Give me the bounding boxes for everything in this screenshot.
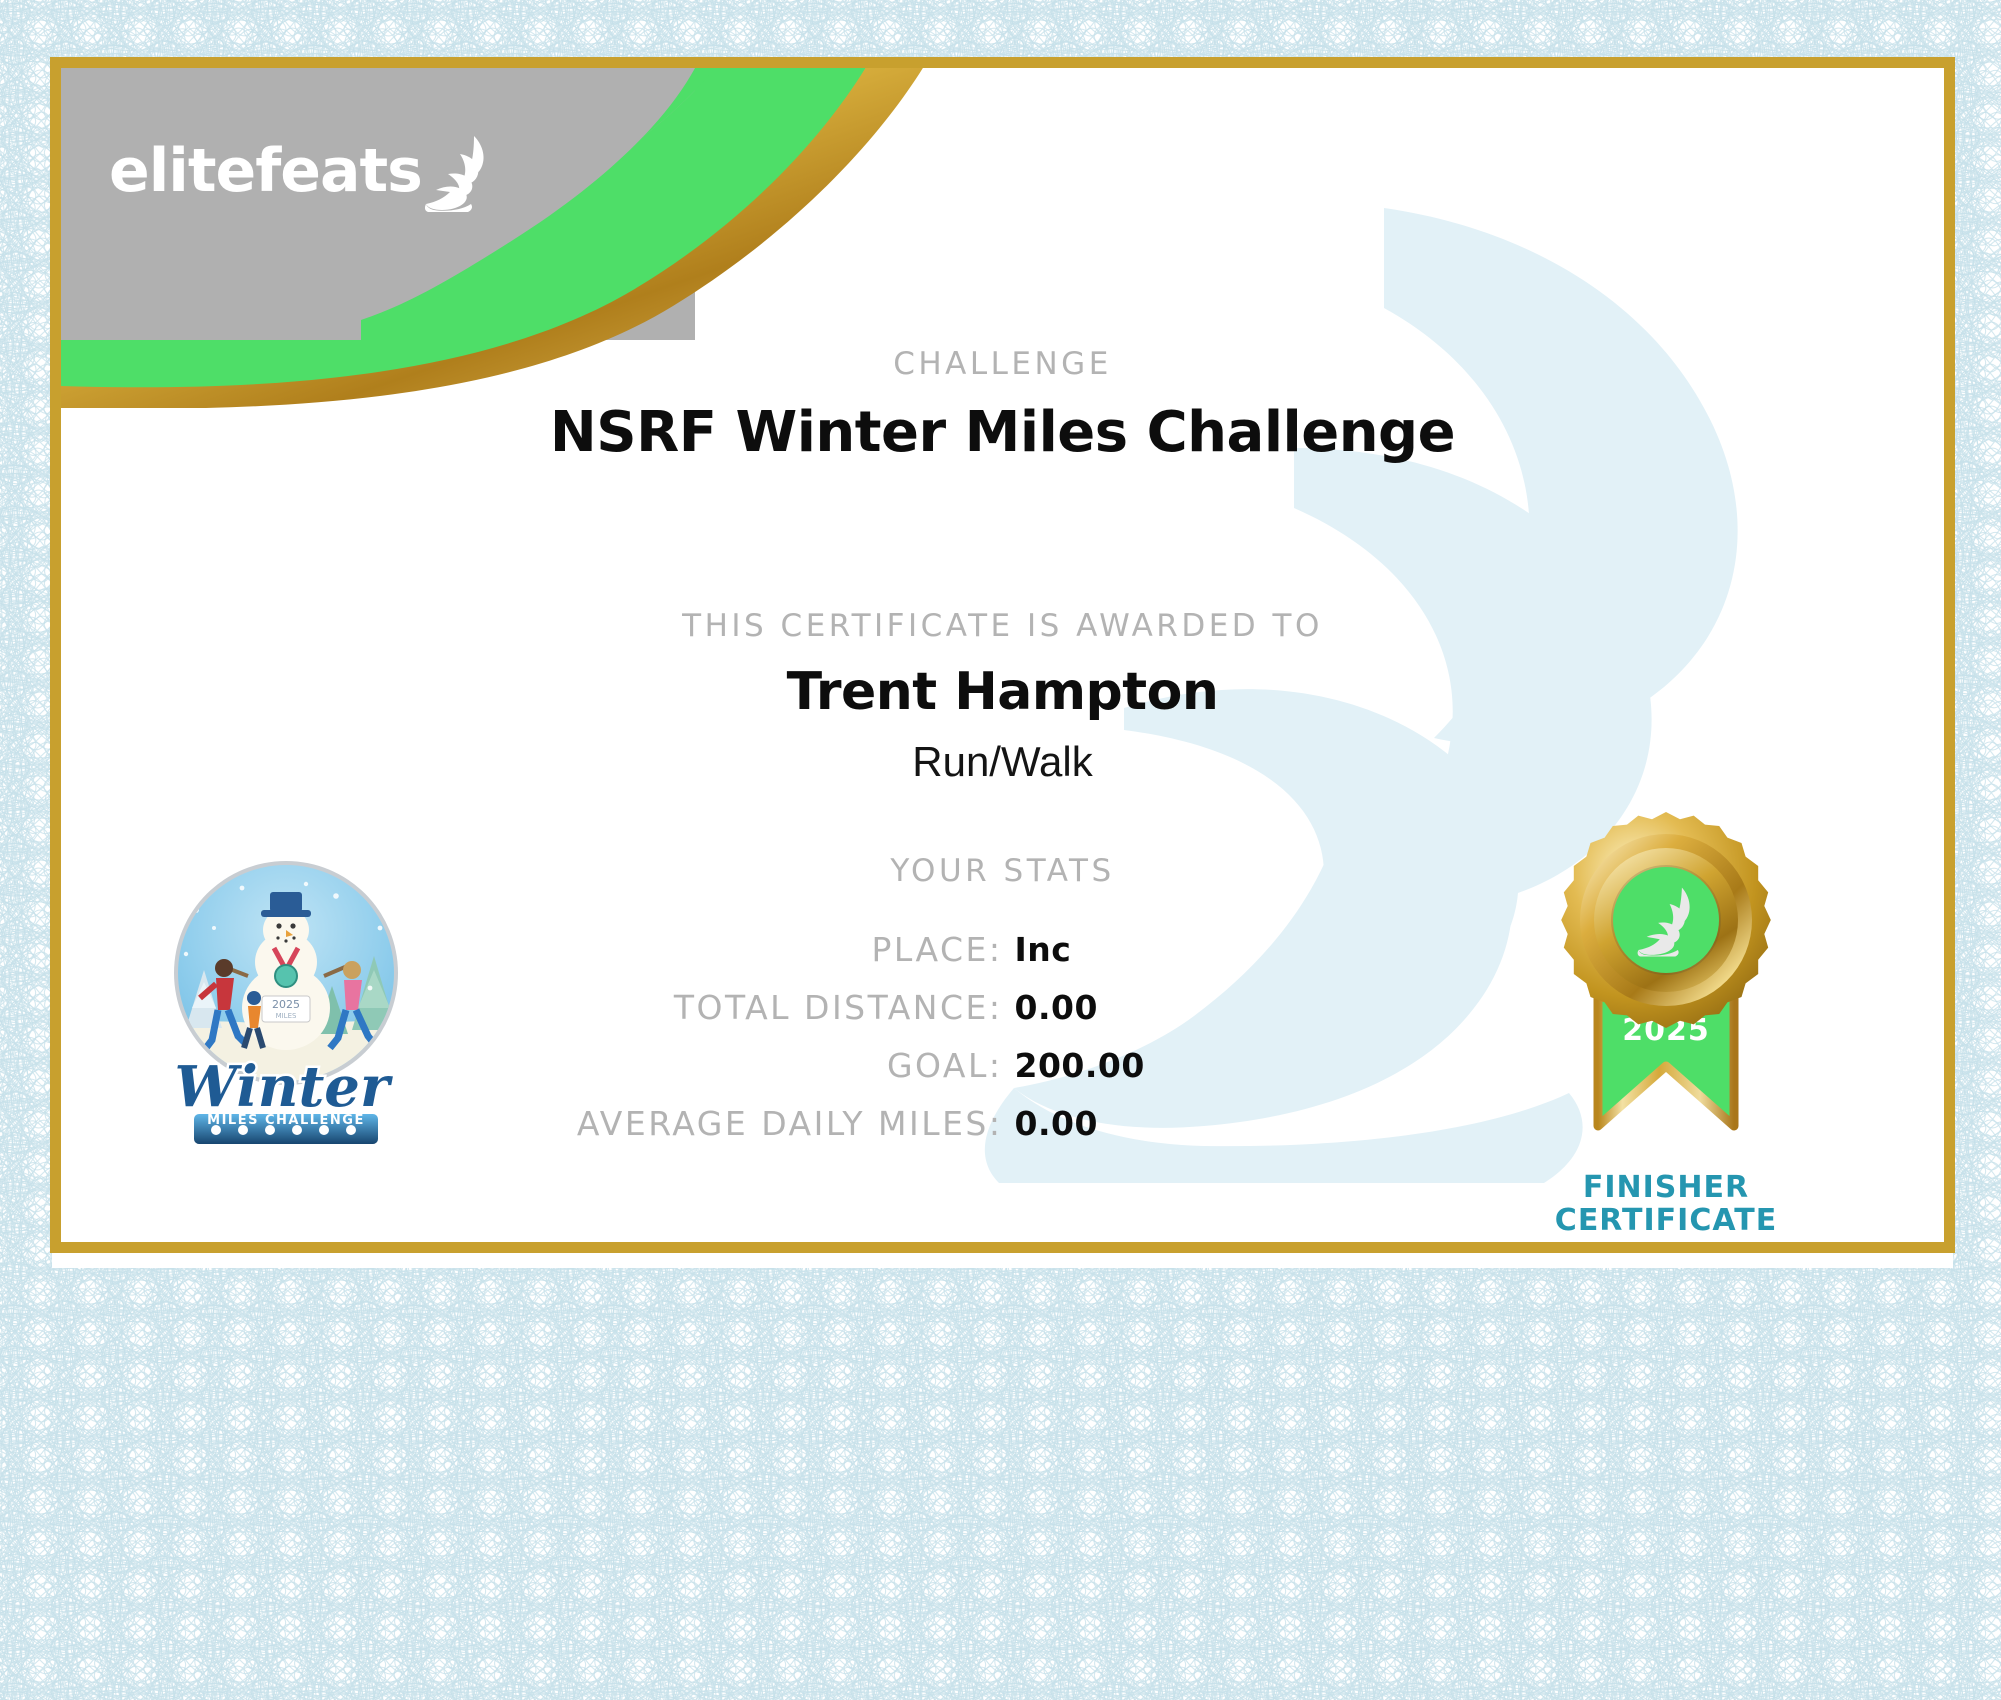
- finisher-badge: 2025: [1536, 808, 1796, 1238]
- svg-text:2025: 2025: [272, 998, 300, 1011]
- elitefeats-wordmark: elitefeats: [109, 141, 422, 201]
- challenge-name: NSRF Winter Miles Challenge: [61, 400, 1944, 465]
- medal-title-script: Winter: [175, 1054, 393, 1120]
- medal-subtitle: MILES CHALLENGE: [207, 1113, 365, 1128]
- elitefeats-logo: elitefeats: [109, 128, 496, 214]
- badge-caption-line2: CERTIFICATE: [1536, 1204, 1796, 1238]
- gold-rosette-medal-icon: 2025: [1536, 808, 1796, 1148]
- badge-rosette: [1561, 812, 1771, 1028]
- badge-caption: FINISHER CERTIFICATE: [1536, 1171, 1796, 1238]
- recipient-name: Trent Hampton: [61, 662, 1944, 722]
- challenge-label: CHALLENGE: [61, 346, 1944, 382]
- certificate-frame: elitefeats CHALLENGE NSRF Winter Miles C…: [50, 57, 1955, 1253]
- certificate-page: elitefeats CHALLENGE NSRF Winter Miles C…: [0, 0, 2001, 1700]
- svg-text:MILES: MILES: [276, 1012, 297, 1020]
- snow-globe-medal-icon: 2025 MILES: [156, 858, 416, 1158]
- awarded-to-label: THIS CERTIFICATE IS AWARDED TO: [61, 608, 1944, 644]
- recipient-division: Run/Walk: [61, 738, 1944, 786]
- winged-foot-icon: [424, 134, 496, 214]
- badge-caption-line1: FINISHER: [1536, 1171, 1796, 1205]
